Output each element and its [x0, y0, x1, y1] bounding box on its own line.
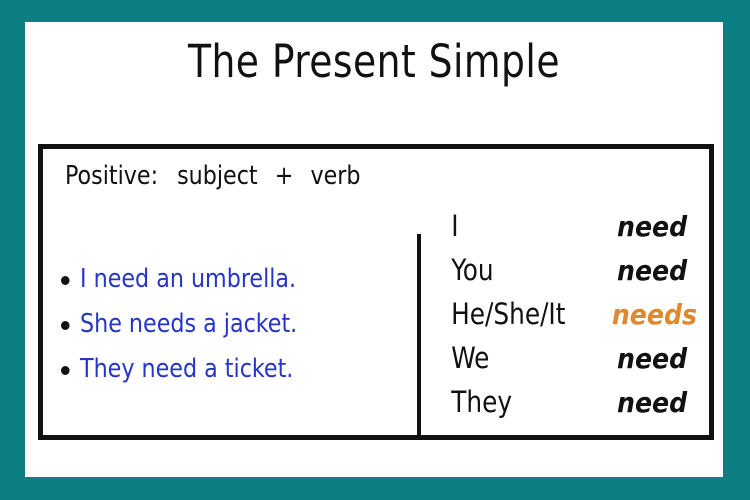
pronoun-cell: You	[451, 253, 613, 287]
example-sentence-text: She needs a jacket.	[80, 309, 297, 339]
list-item: They need a ticket.	[61, 347, 375, 392]
table-row: He/She/It needs	[447, 297, 697, 341]
table-row: They need	[447, 385, 697, 429]
column-divider	[417, 234, 421, 437]
verb-cell: need	[617, 386, 687, 419]
formula-verb: verb	[310, 161, 360, 191]
bullet-dot-icon	[61, 321, 70, 330]
rule-box: Positive:subject+verb I need an umbrella…	[38, 144, 714, 440]
pronoun-cell: I	[451, 209, 613, 243]
list-item: I need an umbrella.	[61, 257, 375, 302]
example-sentence-text: I need an umbrella.	[80, 264, 296, 294]
formula-label: Positive:	[65, 161, 158, 191]
example-sentence-text: They need a ticket.	[80, 354, 293, 384]
table-row: I need	[447, 209, 697, 253]
list-item: She needs a jacket.	[61, 302, 375, 347]
table-row: We need	[447, 341, 697, 385]
table-row: You need	[447, 253, 697, 297]
pronoun-cell: We	[451, 341, 613, 375]
conjugation-table: I need You need He/She/It needs We need …	[447, 209, 697, 429]
grammar-slide: The Present Simple Positive:subject+verb…	[0, 0, 750, 500]
formula-plus-sign: +	[275, 161, 294, 191]
verb-cell-highlighted: needs	[612, 298, 697, 331]
slide-page: The Present Simple Positive:subject+verb…	[25, 22, 723, 477]
bullet-dot-icon	[61, 276, 70, 285]
example-sentence-list: I need an umbrella. She needs a jacket. …	[61, 257, 391, 392]
verb-cell: need	[617, 254, 687, 287]
verb-cell: need	[617, 342, 687, 375]
verb-cell: need	[617, 210, 687, 243]
formula-subject: subject	[177, 161, 258, 191]
formula-line: Positive:subject+verb	[65, 161, 378, 191]
pronoun-cell: He/She/It	[451, 297, 608, 331]
page-title: The Present Simple	[49, 38, 698, 85]
bullet-dot-icon	[61, 366, 70, 375]
pronoun-cell: They	[451, 385, 613, 419]
